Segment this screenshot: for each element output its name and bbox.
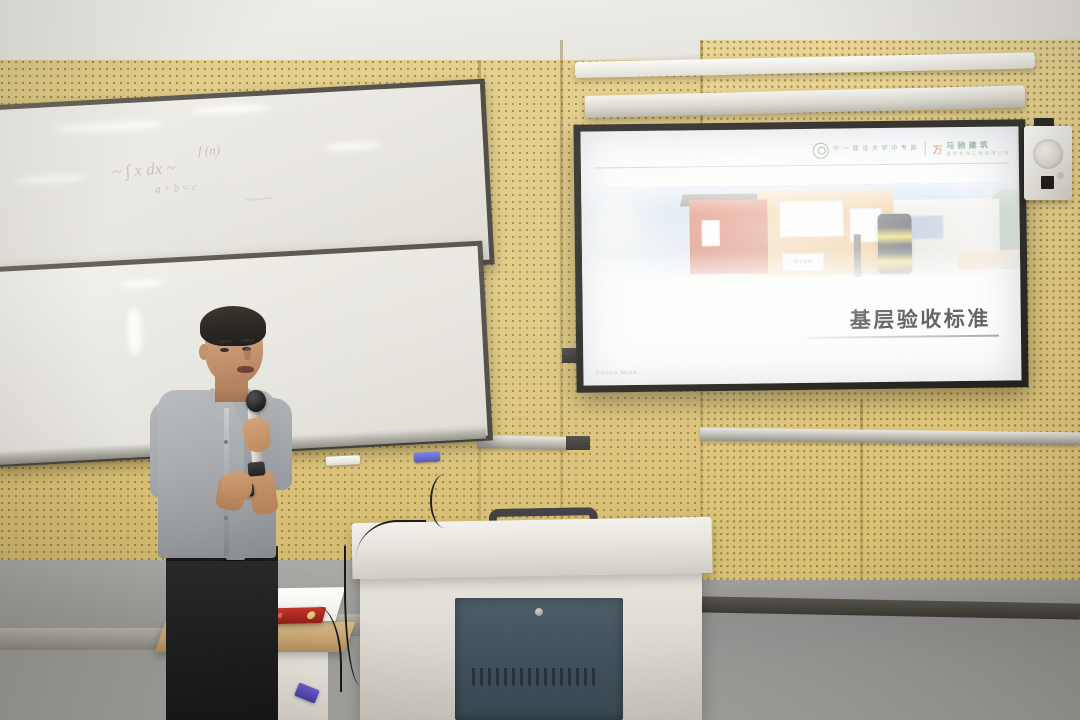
presenter-hand-left [222, 472, 252, 500]
presenter-mouth [237, 366, 254, 373]
presenter-hair [200, 306, 266, 346]
speaker-badge [1041, 176, 1054, 189]
university-seal-icon [813, 142, 829, 158]
overhead-cable [430, 474, 460, 528]
lectern-vents [472, 668, 608, 690]
house-construction-photo: 施工现场 [581, 182, 1020, 279]
lectern-lock-icon[interactable] [535, 608, 543, 616]
presenter-hand-right [242, 417, 272, 454]
brand-mark-icon: 万 [933, 141, 943, 156]
slide-footer: Tianxia Muse [595, 370, 637, 377]
logo-divider [925, 141, 926, 156]
projection-screen[interactable]: 中 一 建 设 大 学 中 专 部 万 马 驰 建 筑 建 筑 装 饰 工 程 … [573, 119, 1028, 393]
slide-header-rule [595, 162, 1009, 168]
blue-marker[interactable] [414, 451, 440, 462]
wall-trim-dark [566, 436, 590, 450]
wall-speaker [1024, 126, 1072, 200]
slide-title-underline [807, 335, 999, 339]
handheld-microphone[interactable] [246, 390, 266, 412]
whiteboard-eraser[interactable] [326, 455, 360, 466]
slide-logo-bar: 中 一 建 设 大 学 中 专 部 万 马 驰 建 筑 建 筑 装 饰 工 程 … [813, 139, 1009, 158]
university-logo: 中 一 建 设 大 学 中 专 部 [813, 141, 918, 158]
speaker-tweeter-icon [1057, 172, 1064, 179]
slide-title: 基层验收标准 [850, 303, 991, 335]
speaker-cone-icon [1033, 139, 1063, 169]
brand-logo-text: 马 驰 建 筑 [946, 139, 1009, 151]
brand-logo: 万 马 驰 建 筑 建 筑 装 饰 工 程 有 限 公 司 [933, 139, 1009, 157]
presenter-trousers [166, 548, 278, 720]
lectern-cabinet-door[interactable] [455, 598, 623, 720]
lecture-hall-photo: ~ ∫ x dx ~ f (n) a + b = c ~~~~ 中 一 建 设 … [0, 0, 1080, 720]
presenter-ear [199, 344, 209, 360]
brand-logo-subtext: 建 筑 装 饰 工 程 有 限 公 司 [946, 150, 1009, 157]
floor-kick [0, 628, 175, 650]
university-logo-text: 中 一 建 设 大 学 中 专 部 [833, 145, 918, 154]
microphone-base [247, 461, 265, 476]
presenter-nose [244, 348, 251, 360]
slide: 中 一 建 设 大 学 中 专 部 万 马 驰 建 筑 建 筑 装 饰 工 程 … [580, 126, 1021, 385]
